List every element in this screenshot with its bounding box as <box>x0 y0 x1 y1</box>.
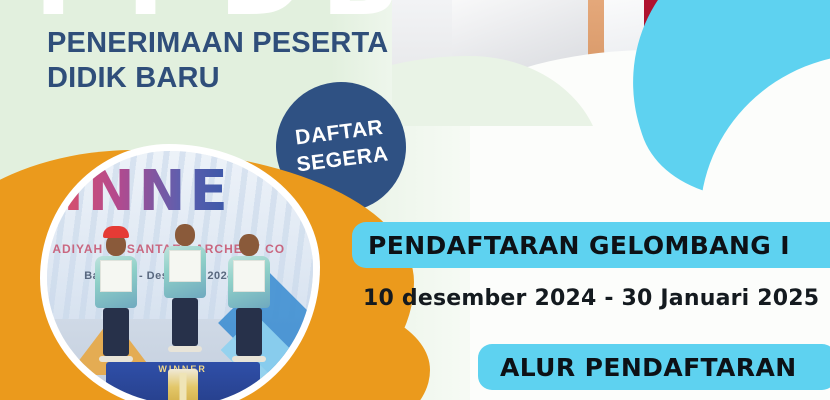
child-feet <box>99 356 133 362</box>
certificate <box>169 250 201 282</box>
registration-date-range: 10 desember 2024 - 30 Januari 2025 <box>363 286 823 311</box>
trophy-icon <box>168 369 198 400</box>
child-jersey <box>228 256 270 308</box>
winners-photo: INNE ADIYAH NUSANTARA ARCHERY CO Bandung… <box>47 151 313 400</box>
child-jersey <box>95 256 137 308</box>
child-legs <box>172 298 198 346</box>
child-winner-3 <box>228 234 270 362</box>
pendaftaran-gelombang-button[interactable]: PENDAFTARAN GELOMBANG I <box>352 222 830 268</box>
trophy-column <box>179 373 186 400</box>
page-title: PENERIMAAN PESERTA DIDIK BARU <box>47 26 447 97</box>
winner-podium: WINNER <box>106 362 260 400</box>
child-feet <box>168 346 202 352</box>
child-jersey <box>164 246 206 298</box>
ppdb-poster: PPDB PENERIMAAN PESERTA DIDIK BARU DAFTA… <box>0 0 830 400</box>
alur-pendaftaran-button[interactable]: ALUR PENDAFTARAN <box>478 344 830 390</box>
child-legs <box>103 308 129 356</box>
child-red-cap <box>103 226 129 238</box>
certificate <box>100 260 132 292</box>
child-head <box>239 234 259 256</box>
child-head <box>175 224 195 246</box>
winners-photo-frame: INNE ADIYAH NUSANTARA ARCHERY CO Bandung… <box>40 144 320 400</box>
certificate <box>233 260 265 292</box>
child-feet <box>232 356 266 362</box>
child-winner-1 <box>95 226 137 362</box>
child-legs <box>236 308 262 356</box>
child-winner-2 <box>164 224 206 352</box>
headline-line-2: DIDIK BARU <box>47 61 447 96</box>
headline-line-1: PENERIMAAN PESERTA <box>47 27 388 59</box>
